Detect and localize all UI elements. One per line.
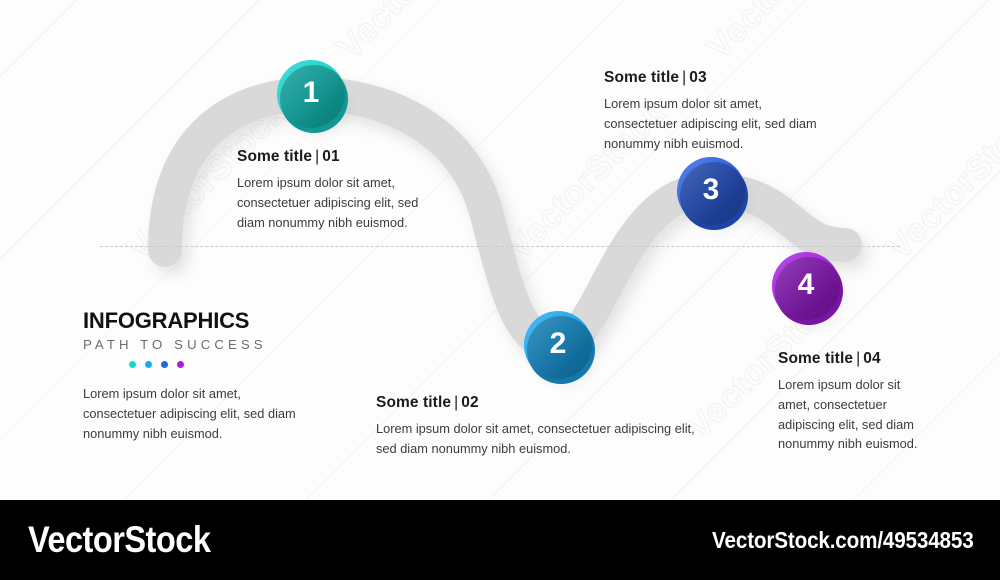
step-title-separator: | (312, 148, 322, 165)
step-node-3[interactable]: 3 (677, 157, 745, 225)
step-title-separator: | (451, 394, 461, 411)
step-node-4[interactable]: 4 (772, 252, 840, 320)
step-index-label: 01 (322, 148, 339, 165)
brand-body: Lorem ipsum dolor sit amet, consectetuer… (83, 384, 303, 443)
step-number-1: 1 (303, 78, 320, 110)
step-number-2: 2 (550, 329, 567, 361)
screenshot-canvas: VectorStock VectorStock VectorStock Vect… (0, 0, 1000, 580)
step-block-1: Some title|01 Lorem ipsum dolor sit amet… (237, 148, 433, 232)
step-node-2[interactable]: 2 (524, 311, 592, 379)
step-body-1: Lorem ipsum dolor sit amet, consectetuer… (237, 173, 433, 232)
step-index-label: 02 (461, 394, 478, 411)
step-number-4: 4 (798, 270, 815, 302)
brand-dot-2 (145, 361, 152, 368)
step-title-text: Some title (604, 69, 679, 86)
step-block-4: Some title|04 Lorem ipsum dolor sit amet… (778, 350, 930, 454)
step-body-4: Lorem ipsum dolor sit amet, consectetuer… (778, 375, 930, 454)
baseline-dashed-rule (100, 246, 900, 247)
step-body-3: Lorem ipsum dolor sit amet, consectetuer… (604, 94, 836, 153)
step-title-3: Some title|03 (604, 69, 836, 87)
brand-subtitle: PATH TO SUCCESS (83, 338, 303, 351)
step-title-2: Some title|02 (376, 394, 710, 412)
vectorstock-logo: VectorStock (28, 519, 210, 561)
vectorstock-url: VectorStock.com/49534853 (712, 527, 974, 554)
step-title-separator: | (679, 69, 689, 86)
step-title-4: Some title|04 (778, 350, 930, 368)
brand-block: INFOGRAPHICS PATH TO SUCCESS Lorem ipsum… (83, 310, 303, 444)
step-block-3: Some title|03 Lorem ipsum dolor sit amet… (604, 69, 836, 153)
brand-dot-3 (161, 361, 168, 368)
step-title-text: Some title (778, 350, 853, 367)
step-title-separator: | (853, 350, 863, 367)
infographic-artboard: VectorStock VectorStock VectorStock Vect… (0, 0, 1000, 500)
step-title-text: Some title (376, 394, 451, 411)
step-number-3: 3 (703, 175, 720, 207)
brand-dot-4 (177, 361, 184, 368)
step-index-label: 03 (689, 69, 706, 86)
step-title-text: Some title (237, 148, 312, 165)
step-title-1: Some title|01 (237, 148, 433, 166)
step-node-1[interactable]: 1 (277, 60, 345, 128)
step-block-2: Some title|02 Lorem ipsum dolor sit amet… (376, 394, 710, 459)
footer-bar: VectorStock VectorStock.com/49534853 (0, 500, 1000, 580)
brand-title: INFOGRAPHICS (83, 310, 303, 332)
step-body-2: Lorem ipsum dolor sit amet, consectetuer… (376, 419, 710, 459)
step-index-label: 04 (863, 350, 880, 367)
brand-dot-1 (129, 361, 136, 368)
brand-dot-row (129, 361, 303, 368)
